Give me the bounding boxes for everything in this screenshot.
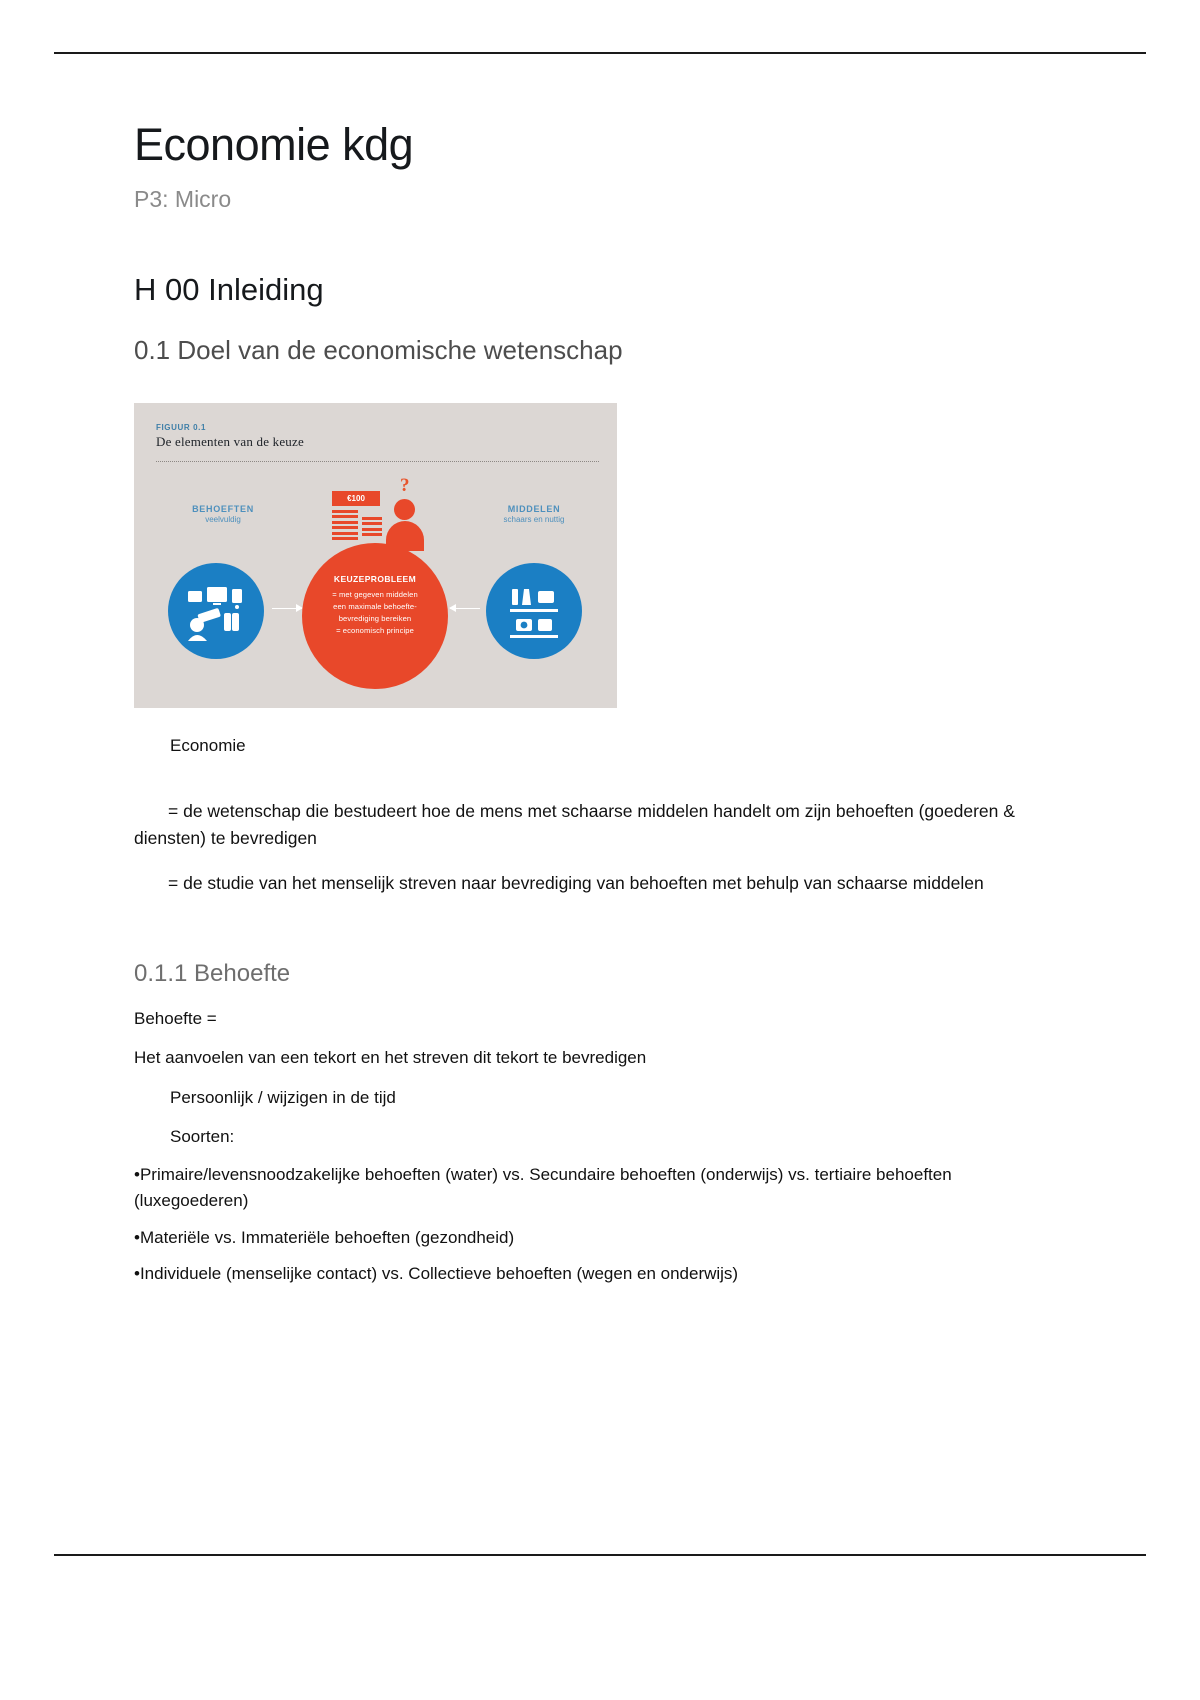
- note-persoonlijk: Persoonlijk / wijzigen in de tijd: [134, 1084, 1034, 1111]
- coin-stack-left-icon: [332, 510, 358, 543]
- keuzeprobleem-line-4: = economisch principe: [314, 625, 436, 637]
- section-heading: 0.1 Doel van de economische wetenschap: [134, 334, 1034, 367]
- term-behoefte: Behoefte =: [134, 1005, 1034, 1032]
- behoeften-circle-icon: [168, 563, 264, 659]
- figure-label-middelen: MIDDELEN schaars en nuttig: [464, 503, 604, 526]
- person-icon: [386, 499, 426, 549]
- figure-label-middelen-subtitle: schaars en nuttig: [464, 515, 604, 526]
- figure-kicker: FIGUUR 0.1: [156, 423, 206, 432]
- page-subtitle: P3: Micro: [134, 186, 1034, 214]
- behoefte-soorten-list: •Primaire/levensnoodzakelijke behoeften …: [134, 1162, 1034, 1287]
- document-page: Economie kdg P3: Micro H 00 Inleiding 0.…: [0, 0, 1200, 1700]
- keuzeprobleem-line-2: een maximale behoefte-: [314, 601, 436, 613]
- money-icon: €100: [332, 491, 388, 543]
- list-item: •Individuele (menselijke contact) vs. Co…: [134, 1261, 1034, 1287]
- keuzeprobleem-line-3: bevrediging bereiken: [314, 613, 436, 625]
- page-bottom-rule: [54, 1554, 1146, 1556]
- arrow-left-icon: [272, 608, 302, 609]
- coin-stack-right-icon: [362, 517, 382, 539]
- note-soorten: Soorten:: [134, 1123, 1034, 1150]
- arrow-right-icon: [450, 608, 480, 609]
- keuzeprobleem-line-1: = met gegeven middelen: [314, 589, 436, 601]
- keuzeprobleem-title: KEUZEPROBLEEM: [314, 574, 436, 584]
- middelen-circle-icon: [486, 563, 582, 659]
- definition-economie-2-line-2: schaarse middelen: [837, 873, 984, 893]
- question-mark-icon: ?: [400, 475, 410, 497]
- figure-label-behoeften-subtitle: veelvuldig: [158, 515, 288, 526]
- person-head-icon: [394, 499, 415, 520]
- figure-elementen-van-de-keuze: FIGUUR 0.1 De elementen van de keuze ? €…: [134, 403, 617, 708]
- chapter-heading: H 00 Inleiding: [134, 271, 1034, 308]
- figure-label-behoeften: BEHOEFTEN veelvuldig: [158, 503, 288, 526]
- figure-container: FIGUUR 0.1 De elementen van de keuze ? €…: [134, 403, 1034, 708]
- definition-economie-2-line-1: = de studie van het menselijk streven na…: [134, 873, 832, 893]
- figure-caption: De elementen van de keuze: [156, 434, 304, 450]
- section-spacer: [134, 903, 1034, 959]
- list-item: •Primaire/levensnoodzakelijke behoeften …: [134, 1162, 1034, 1215]
- banknote-label: €100: [332, 491, 380, 506]
- figure-label-behoeften-title: BEHOEFTEN: [158, 503, 288, 515]
- definition-economie-2: = de studie van het menselijk streven na…: [134, 870, 1034, 897]
- keuzeprobleem-circle: KEUZEPROBLEEM = met gegeven middelen een…: [302, 543, 448, 689]
- subsection-heading-behoefte: 0.1.1 Behoefte: [134, 959, 1034, 989]
- figure-divider: [156, 461, 599, 462]
- figure-label-middelen-title: MIDDELEN: [464, 503, 604, 515]
- page-top-rule: [54, 52, 1146, 54]
- definition-economie-1-line-1: = de wetenschap die bestudeert hoe de me…: [134, 801, 831, 821]
- term-economie: Economie: [134, 736, 1034, 756]
- definition-behoefte: Het aanvoelen van een tekort en het stre…: [134, 1044, 1034, 1071]
- page-content: Economie kdg P3: Micro H 00 Inleiding 0.…: [134, 120, 1034, 1297]
- definition-economie-1: = de wetenschap die bestudeert hoe de me…: [134, 798, 1034, 852]
- list-item: •Materiële vs. Immateriële behoeften (ge…: [134, 1225, 1034, 1251]
- page-title: Economie kdg: [134, 120, 1034, 170]
